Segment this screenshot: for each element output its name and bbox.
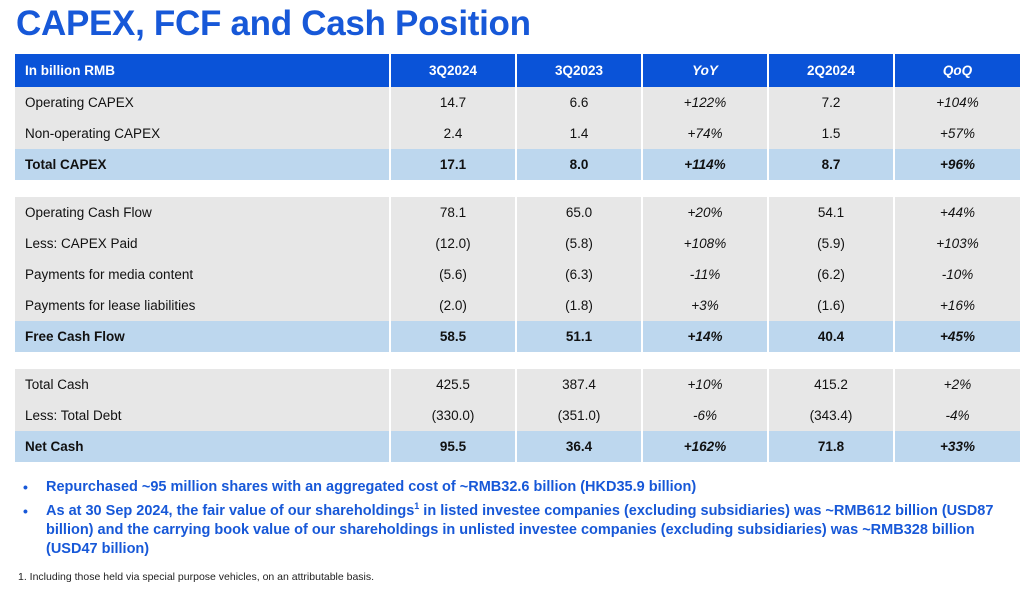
- cell-2q2024: 40.4: [768, 321, 894, 352]
- cell-label: Total CAPEX: [15, 149, 390, 180]
- table-row: Less: Total Debt(330.0)(351.0)-6%(343.4)…: [15, 400, 1020, 431]
- cell-yoy: +122%: [642, 87, 768, 118]
- table-row: Operating Cash Flow78.165.0+20%54.1+44%: [15, 197, 1020, 228]
- list-item-text-main: Repurchased ~95 million shares with an a…: [46, 479, 696, 495]
- cell-qoq: +2%: [894, 369, 1020, 400]
- footnote: 1. Including those held via special purp…: [18, 570, 374, 584]
- cell-2q2024: 71.8: [768, 431, 894, 462]
- list-item: •Repurchased ~95 million shares with an …: [18, 478, 1018, 497]
- cell-3q2023: (351.0): [516, 400, 642, 431]
- cell-qoq: -10%: [894, 259, 1020, 290]
- cell-yoy: +162%: [642, 431, 768, 462]
- cell-3q2023: 8.0: [516, 149, 642, 180]
- table-section-spacer: [15, 352, 1020, 369]
- cell-3q2024: (2.0): [390, 290, 516, 321]
- cell-3q2024: 14.7: [390, 87, 516, 118]
- cell-3q2024: (330.0): [390, 400, 516, 431]
- cell-label: Payments for lease liabilities: [15, 290, 390, 321]
- cell-yoy: +114%: [642, 149, 768, 180]
- bullet-list: •Repurchased ~95 million shares with an …: [18, 478, 1018, 564]
- cell-3q2024: 95.5: [390, 431, 516, 462]
- cell-3q2024: 58.5: [390, 321, 516, 352]
- cell-3q2023: 6.6: [516, 87, 642, 118]
- cell-yoy: +108%: [642, 228, 768, 259]
- cell-3q2023: (1.8): [516, 290, 642, 321]
- cell-3q2024: 425.5: [390, 369, 516, 400]
- cell-2q2024: (5.9): [768, 228, 894, 259]
- table-section-spacer: [15, 180, 1020, 197]
- list-item-text-main: As at 30 Sep 2024, the fair value of our…: [46, 503, 414, 519]
- table-row: Total CAPEX17.18.0+114%8.7+96%: [15, 149, 1020, 180]
- page-title: CAPEX, FCF and Cash Position: [16, 2, 531, 46]
- column-header-yoy: YoY: [642, 54, 768, 87]
- cell-2q2024: 415.2: [768, 369, 894, 400]
- cell-qoq: +57%: [894, 118, 1020, 149]
- table-row: Operating CAPEX14.76.6+122%7.2+104%: [15, 87, 1020, 118]
- table-row: Less: CAPEX Paid(12.0)(5.8)+108%(5.9)+10…: [15, 228, 1020, 259]
- cell-3q2023: 65.0: [516, 197, 642, 228]
- cell-3q2023: 36.4: [516, 431, 642, 462]
- cell-label: Less: CAPEX Paid: [15, 228, 390, 259]
- cell-2q2024: (343.4): [768, 400, 894, 431]
- cell-2q2024: (6.2): [768, 259, 894, 290]
- cell-2q2024: 54.1: [768, 197, 894, 228]
- spacer-cell: [15, 180, 1020, 197]
- cell-2q2024: 7.2: [768, 87, 894, 118]
- bullet-dot-icon: •: [18, 502, 46, 521]
- table-row: Non-operating CAPEX2.41.4+74%1.5+57%: [15, 118, 1020, 149]
- table-row: Net Cash95.536.4+162%71.8+33%: [15, 431, 1020, 462]
- cell-3q2024: (12.0): [390, 228, 516, 259]
- cell-3q2023: 1.4: [516, 118, 642, 149]
- cell-2q2024: 8.7: [768, 149, 894, 180]
- cell-qoq: +96%: [894, 149, 1020, 180]
- cell-3q2023: (6.3): [516, 259, 642, 290]
- cell-label: Operating Cash Flow: [15, 197, 390, 228]
- cell-qoq: +103%: [894, 228, 1020, 259]
- table-row: Payments for lease liabilities(2.0)(1.8)…: [15, 290, 1020, 321]
- column-header-2q2024: 2Q2024: [768, 54, 894, 87]
- table-row: Payments for media content(5.6)(6.3)-11%…: [15, 259, 1020, 290]
- cell-3q2023: (5.8): [516, 228, 642, 259]
- cell-qoq: +45%: [894, 321, 1020, 352]
- cell-label: Free Cash Flow: [15, 321, 390, 352]
- cell-yoy: -11%: [642, 259, 768, 290]
- column-header-3q2023: 3Q2023: [516, 54, 642, 87]
- cell-qoq: +44%: [894, 197, 1020, 228]
- cell-label: Non-operating CAPEX: [15, 118, 390, 149]
- cell-qoq: -4%: [894, 400, 1020, 431]
- cell-qoq: +16%: [894, 290, 1020, 321]
- spacer-cell: [15, 352, 1020, 369]
- cell-3q2024: (5.6): [390, 259, 516, 290]
- cell-label: Total Cash: [15, 369, 390, 400]
- cell-yoy: +14%: [642, 321, 768, 352]
- list-item-text: Repurchased ~95 million shares with an a…: [46, 478, 1018, 497]
- cell-yoy: -6%: [642, 400, 768, 431]
- cell-qoq: +104%: [894, 87, 1020, 118]
- financial-table-container: In billion RMB 3Q2024 3Q2023 YoY 2Q2024 …: [15, 54, 1020, 462]
- column-header-label: In billion RMB: [15, 54, 390, 87]
- slide-root: CAPEX, FCF and Cash Position In billion …: [0, 0, 1032, 597]
- table-header-row: In billion RMB 3Q2024 3Q2023 YoY 2Q2024 …: [15, 54, 1020, 87]
- table-header: In billion RMB 3Q2024 3Q2023 YoY 2Q2024 …: [15, 54, 1020, 87]
- cell-yoy: +20%: [642, 197, 768, 228]
- cell-label: Net Cash: [15, 431, 390, 462]
- cell-3q2024: 2.4: [390, 118, 516, 149]
- cell-yoy: +10%: [642, 369, 768, 400]
- cell-yoy: +3%: [642, 290, 768, 321]
- table-row: Free Cash Flow58.551.1+14%40.4+45%: [15, 321, 1020, 352]
- column-header-qoq: QoQ: [894, 54, 1020, 87]
- cell-label: Payments for media content: [15, 259, 390, 290]
- bullet-dot-icon: •: [18, 478, 46, 497]
- cell-2q2024: 1.5: [768, 118, 894, 149]
- cell-label: Less: Total Debt: [15, 400, 390, 431]
- cell-3q2023: 387.4: [516, 369, 642, 400]
- financial-table: In billion RMB 3Q2024 3Q2023 YoY 2Q2024 …: [15, 54, 1020, 462]
- cell-qoq: +33%: [894, 431, 1020, 462]
- column-header-3q2024: 3Q2024: [390, 54, 516, 87]
- table-body: Operating CAPEX14.76.6+122%7.2+104%Non-o…: [15, 87, 1020, 462]
- cell-yoy: +74%: [642, 118, 768, 149]
- cell-3q2024: 78.1: [390, 197, 516, 228]
- list-item-text: As at 30 Sep 2024, the fair value of our…: [46, 502, 1018, 559]
- list-item: •As at 30 Sep 2024, the fair value of ou…: [18, 502, 1018, 559]
- cell-3q2024: 17.1: [390, 149, 516, 180]
- cell-label: Operating CAPEX: [15, 87, 390, 118]
- cell-3q2023: 51.1: [516, 321, 642, 352]
- table-row: Total Cash425.5387.4+10%415.2+2%: [15, 369, 1020, 400]
- cell-2q2024: (1.6): [768, 290, 894, 321]
